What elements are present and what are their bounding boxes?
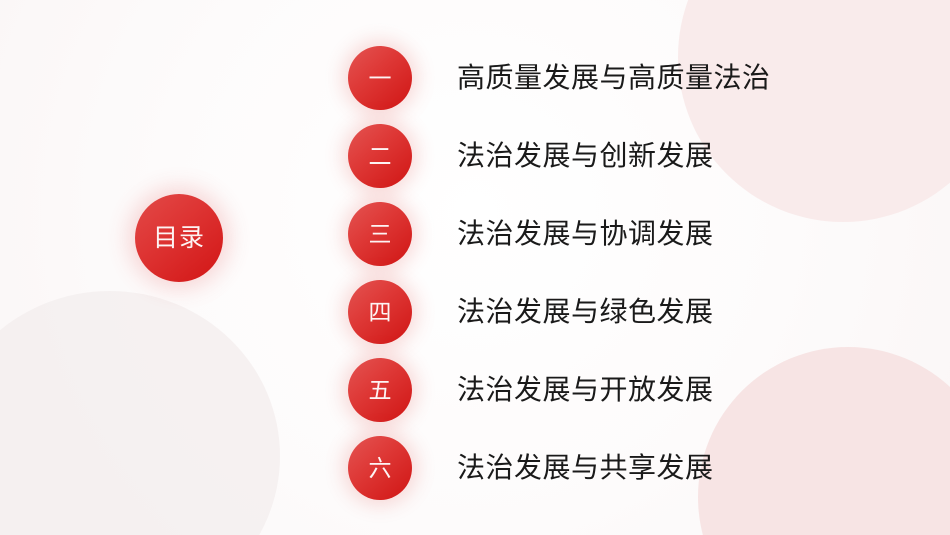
item-label-1: 高质量发展与高质量法治 <box>457 62 771 94</box>
decorative-circle-bottom-left <box>0 291 280 535</box>
item-label-4: 法治发展与绿色发展 <box>457 296 714 328</box>
item-label-2: 法治发展与创新发展 <box>457 140 714 172</box>
list-item[interactable]: 一 高质量发展与高质量法治 <box>348 39 908 117</box>
list-item[interactable]: 三 法治发展与协调发展 <box>348 195 908 273</box>
list-item[interactable]: 六 法治发展与共享发展 <box>348 429 908 507</box>
agenda-list: 一 高质量发展与高质量法治 二 法治发展与创新发展 三 法治发展与协调发展 四 … <box>348 39 908 507</box>
item-label-6: 法治发展与共享发展 <box>457 452 714 484</box>
table-of-contents-badge-label: 目录 <box>153 226 205 251</box>
item-label-3: 法治发展与协调发展 <box>457 218 714 250</box>
item-label-5: 法治发展与开放发展 <box>457 374 714 406</box>
item-number-badge-2: 二 <box>348 124 412 188</box>
presentation-slide: 目录 一 高质量发展与高质量法治 二 法治发展与创新发展 三 法治发展与协调发展… <box>0 0 950 535</box>
item-number-badge-5: 五 <box>348 358 412 422</box>
item-number-badge-1: 一 <box>348 46 412 110</box>
table-of-contents-badge: 目录 <box>135 194 223 282</box>
item-number-badge-6: 六 <box>348 436 412 500</box>
list-item[interactable]: 四 法治发展与绿色发展 <box>348 273 908 351</box>
list-item[interactable]: 五 法治发展与开放发展 <box>348 351 908 429</box>
item-number-badge-4: 四 <box>348 280 412 344</box>
item-number-badge-3: 三 <box>348 202 412 266</box>
list-item[interactable]: 二 法治发展与创新发展 <box>348 117 908 195</box>
